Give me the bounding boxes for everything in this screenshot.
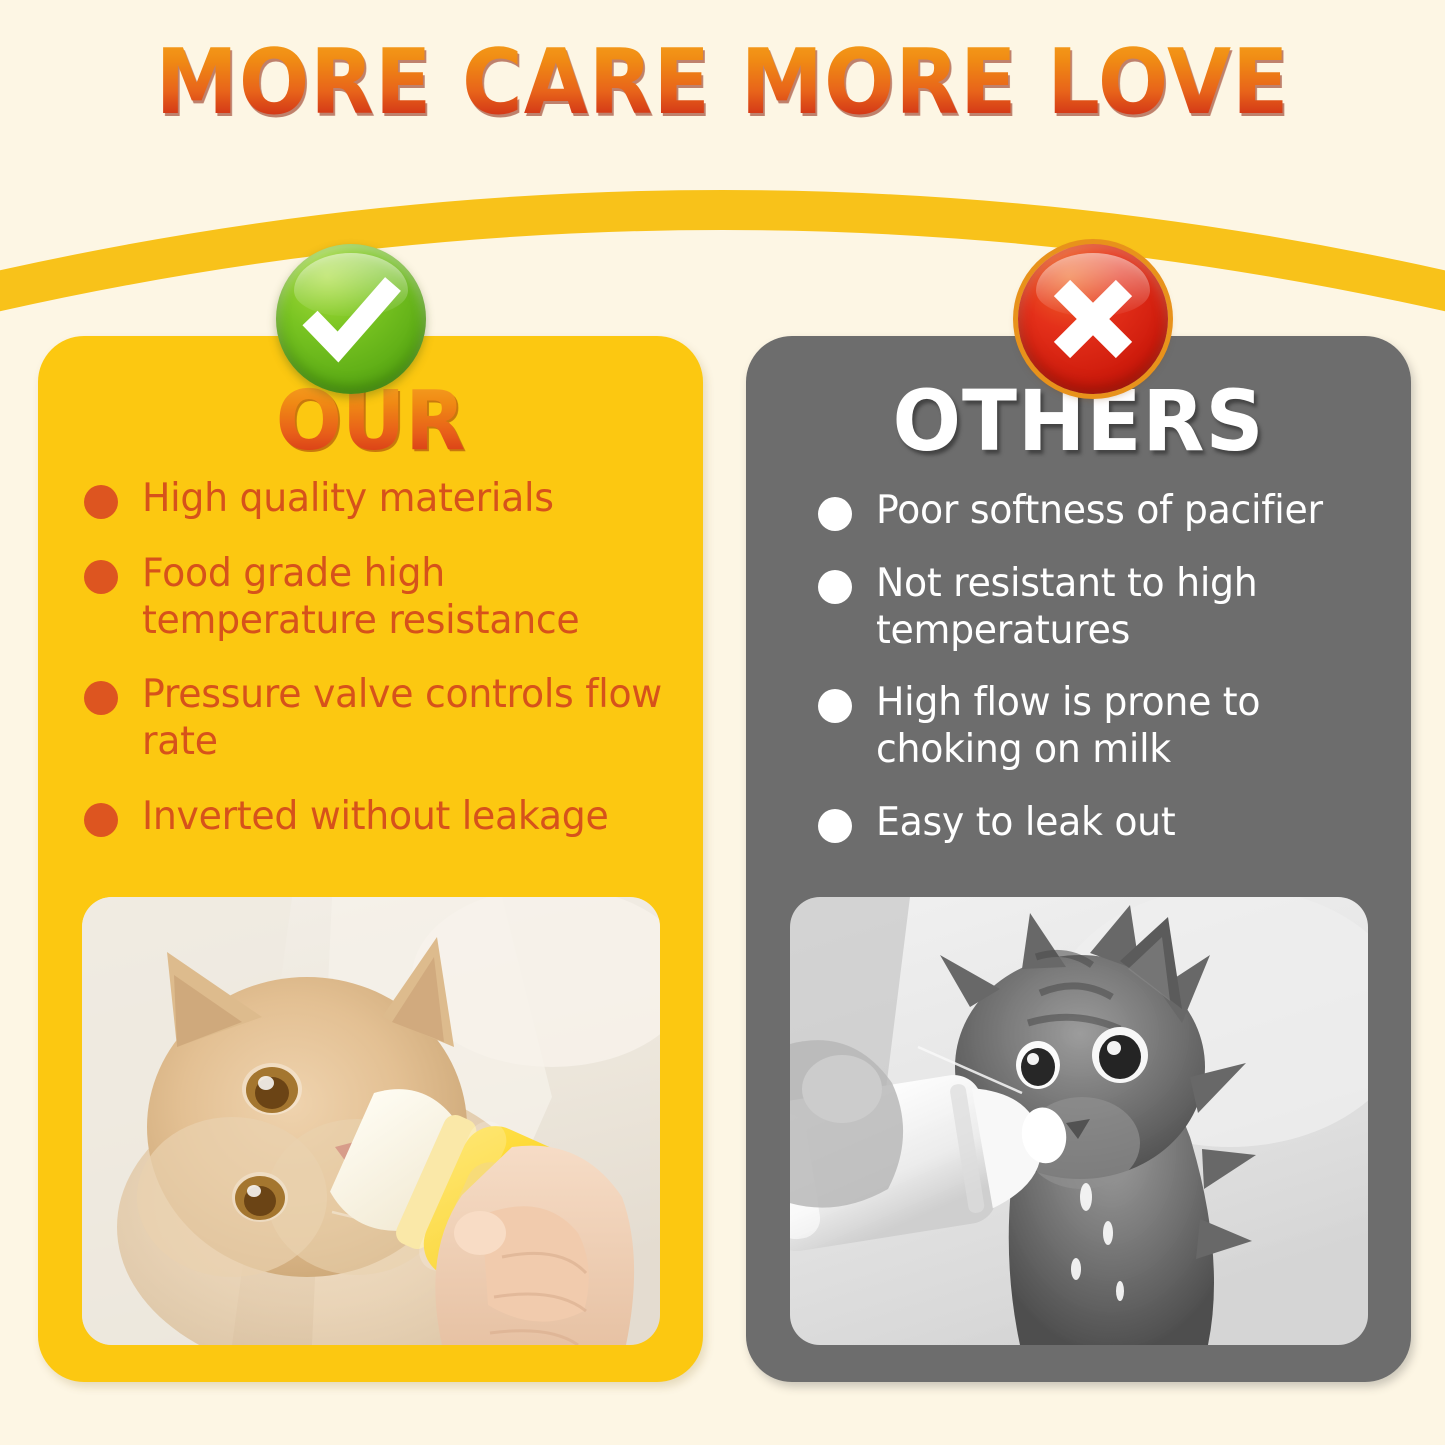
page-title: MORE CARE MORE LOVE: [58, 36, 1387, 131]
bullet-list-our: High quality materials Food grade high t…: [84, 476, 684, 869]
bullet-dot-icon: [818, 570, 852, 604]
bullet-label: High quality materials: [142, 476, 554, 523]
list-item: High flow is prone to choking on milk: [818, 680, 1418, 774]
photo-our-product: 60 50 30: [82, 897, 660, 1345]
list-item: Poor softness of pacifier: [818, 488, 1418, 535]
bullet-dot-icon: [84, 681, 118, 715]
bullet-dot-icon: [84, 560, 118, 594]
cross-icon: [1018, 244, 1168, 394]
photo-others-product: [790, 897, 1368, 1345]
bullet-label: Not resistant to high temperatures: [876, 561, 1402, 655]
bullet-label: Easy to leak out: [876, 800, 1175, 847]
bullet-label: Pressure valve controls flow rate: [142, 672, 668, 766]
check-icon: [276, 244, 426, 394]
bullet-list-others: Poor softness of pacifier Not resistant …: [818, 488, 1418, 873]
bullet-label: Poor softness of pacifier: [876, 488, 1323, 535]
bullet-dot-icon: [818, 689, 852, 723]
bullet-dot-icon: [84, 485, 118, 519]
list-item: High quality materials: [84, 476, 684, 523]
infographic-canvas: MORE CARE MORE LOVE OUR High quality mat…: [0, 0, 1445, 1445]
bullet-label: Inverted without leakage: [142, 794, 608, 841]
list-item: Not resistant to high temperatures: [818, 561, 1418, 655]
list-item: Easy to leak out: [818, 800, 1418, 847]
bullet-dot-icon: [818, 809, 852, 843]
list-item: Inverted without leakage: [84, 794, 684, 841]
bullet-dot-icon: [818, 497, 852, 531]
bullet-dot-icon: [84, 803, 118, 837]
list-item: Food grade high temperature resistance: [84, 551, 684, 645]
list-item: Pressure valve controls flow rate: [84, 672, 684, 766]
bullet-label: High flow is prone to choking on milk: [876, 680, 1402, 774]
bullet-label: Food grade high temperature resistance: [142, 551, 668, 645]
